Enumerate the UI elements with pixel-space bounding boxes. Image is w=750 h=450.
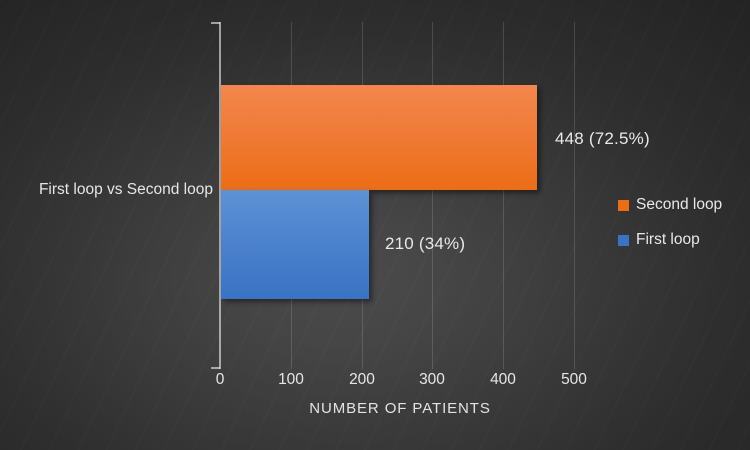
legend-label-second-loop: Second loop [636,196,722,214]
data-label-second-loop: 448 (72.5%) [555,129,650,149]
category-axis-tick-top [211,22,220,24]
category-axis-label: First loop vs Second loop [8,181,213,199]
xtick-label-300: 300 [402,371,462,389]
plot-area: 448 (72.5%) 210 (34%) First loop vs Seco… [0,0,750,450]
data-label-first-loop: 210 (34%) [385,234,465,254]
gridline-400 [503,22,504,369]
x-axis-title: NUMBER OF PATIENTS [222,400,578,417]
legend-item-second-loop[interactable]: Second loop [618,196,722,214]
chart-slide: 448 (72.5%) 210 (34%) First loop vs Seco… [0,0,750,450]
category-axis-tick-bottom [211,367,220,369]
xtick-label-0: 0 [190,371,250,389]
xtick-label-200: 200 [332,371,392,389]
gridline-300 [432,22,433,369]
legend-label-first-loop: First loop [636,231,700,249]
bar-second-loop-fill [221,85,537,190]
legend-item-first-loop[interactable]: First loop [618,231,722,249]
xtick-label-400: 400 [473,371,533,389]
legend-swatch-first-loop-icon [618,235,629,246]
xtick-label-100: 100 [261,371,321,389]
legend-swatch-second-loop-icon [618,200,629,211]
gridline-500 [574,22,575,369]
bar-second-loop[interactable] [221,85,537,190]
chart-legend: Second loop First loop [618,196,722,266]
bar-first-loop[interactable] [221,190,369,299]
bar-first-loop-fill [221,190,369,299]
xtick-label-500: 500 [544,371,604,389]
